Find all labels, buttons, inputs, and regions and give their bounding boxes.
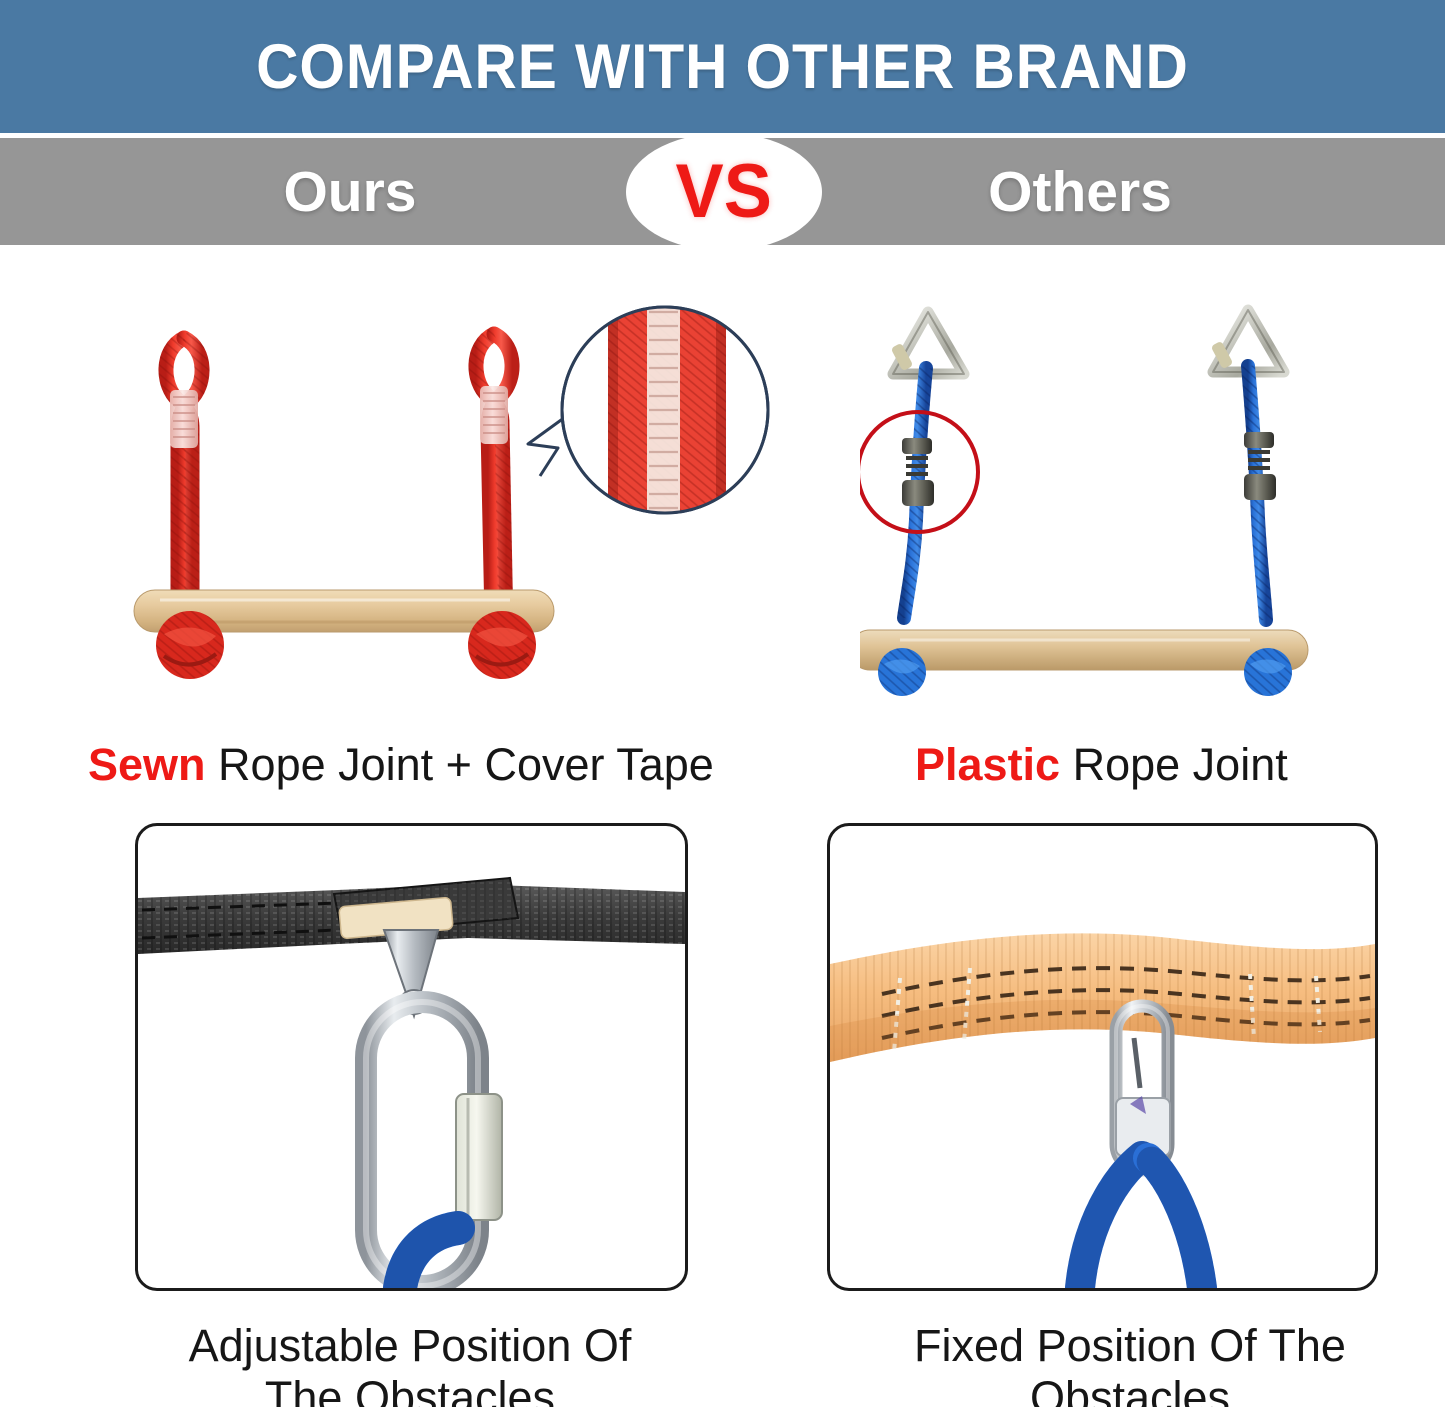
blue-rope-loop [1080, 1156, 1202, 1288]
caption-ours-obstacle-rest: Position Of [399, 1320, 632, 1371]
carabiner-screw-lock-nut [456, 1094, 502, 1220]
plastic-rope-joint-right [1244, 432, 1276, 500]
caption-others-rope-joint-highlight: Plastic [915, 739, 1060, 790]
caption-ours-rope-joint-highlight: Sewn [88, 739, 206, 790]
ours-adjustable-position-panel [135, 823, 688, 1291]
caption-ours-obstacle-line1: Adjustable Position Of [120, 1320, 700, 1372]
ours-rope-trapeze-image [120, 300, 780, 720]
caption-others-obstacle-position: Fixed Position Of The Obstacles [840, 1320, 1420, 1407]
cover-tape-left [170, 390, 198, 448]
column-header-others: Others [870, 138, 1290, 245]
blue-rope-knot-right [1244, 648, 1292, 696]
others-rope-trapeze-image [860, 300, 1330, 720]
caption-others-obstacle-line2: Obstacles [840, 1372, 1420, 1407]
blue-rope-knot-left [878, 648, 926, 696]
caption-others-obstacle-line1: Fixed Position Of The [840, 1320, 1420, 1372]
others-fixed-position-panel [827, 823, 1378, 1291]
cover-tape-right [480, 386, 508, 444]
sewn-joint-callout [528, 300, 768, 530]
plastic-rope-joint-left [902, 438, 934, 506]
fixed-sewn-loop-photo [830, 826, 1375, 1288]
infographic-root: COMPARE WITH OTHER BRAND Ours VS Others [0, 0, 1445, 1407]
caption-ours-rope-joint-rest: Rope Joint + Cover Tape [206, 739, 714, 790]
column-header-ours-label: Ours [283, 159, 416, 225]
adjustable-buckle-photo [138, 826, 685, 1288]
vs-badge-label: VS [676, 154, 772, 230]
caption-ours-obstacle-position: Adjustable Position Of The Obstacles [120, 1320, 700, 1407]
caption-ours-obstacle-line2: The Obstacles [120, 1372, 700, 1407]
wooden-bar-others [860, 630, 1308, 670]
rope-knot-left [156, 611, 224, 679]
header-banner: COMPARE WITH OTHER BRAND [0, 0, 1445, 133]
caption-others-rope-joint-rest: Rope Joint [1060, 739, 1288, 790]
column-header-others-label: Others [988, 159, 1172, 225]
cover-tape-magnified [647, 300, 680, 530]
caption-others-rope-joint: Plastic Rope Joint [915, 740, 1288, 790]
caption-others-obstacle-highlight: Fixed [914, 1320, 1024, 1371]
rope-knot-right [468, 611, 536, 679]
vs-badge: VS [626, 133, 822, 251]
right-red-rope-strand [476, 334, 512, 630]
page-title: COMPARE WITH OTHER BRAND [256, 31, 1189, 103]
orange-webbing-strap [830, 933, 1375, 1062]
magnified-rope-joint [608, 300, 726, 530]
caption-ours-rope-joint: Sewn Rope Joint + Cover Tape [88, 740, 714, 790]
caption-others-obstacle-rest: Position Of The [1024, 1320, 1346, 1371]
caption-ours-obstacle-highlight: Adjustable [189, 1320, 399, 1371]
column-header-ours: Ours [150, 138, 550, 245]
left-red-rope-strand [166, 338, 202, 630]
